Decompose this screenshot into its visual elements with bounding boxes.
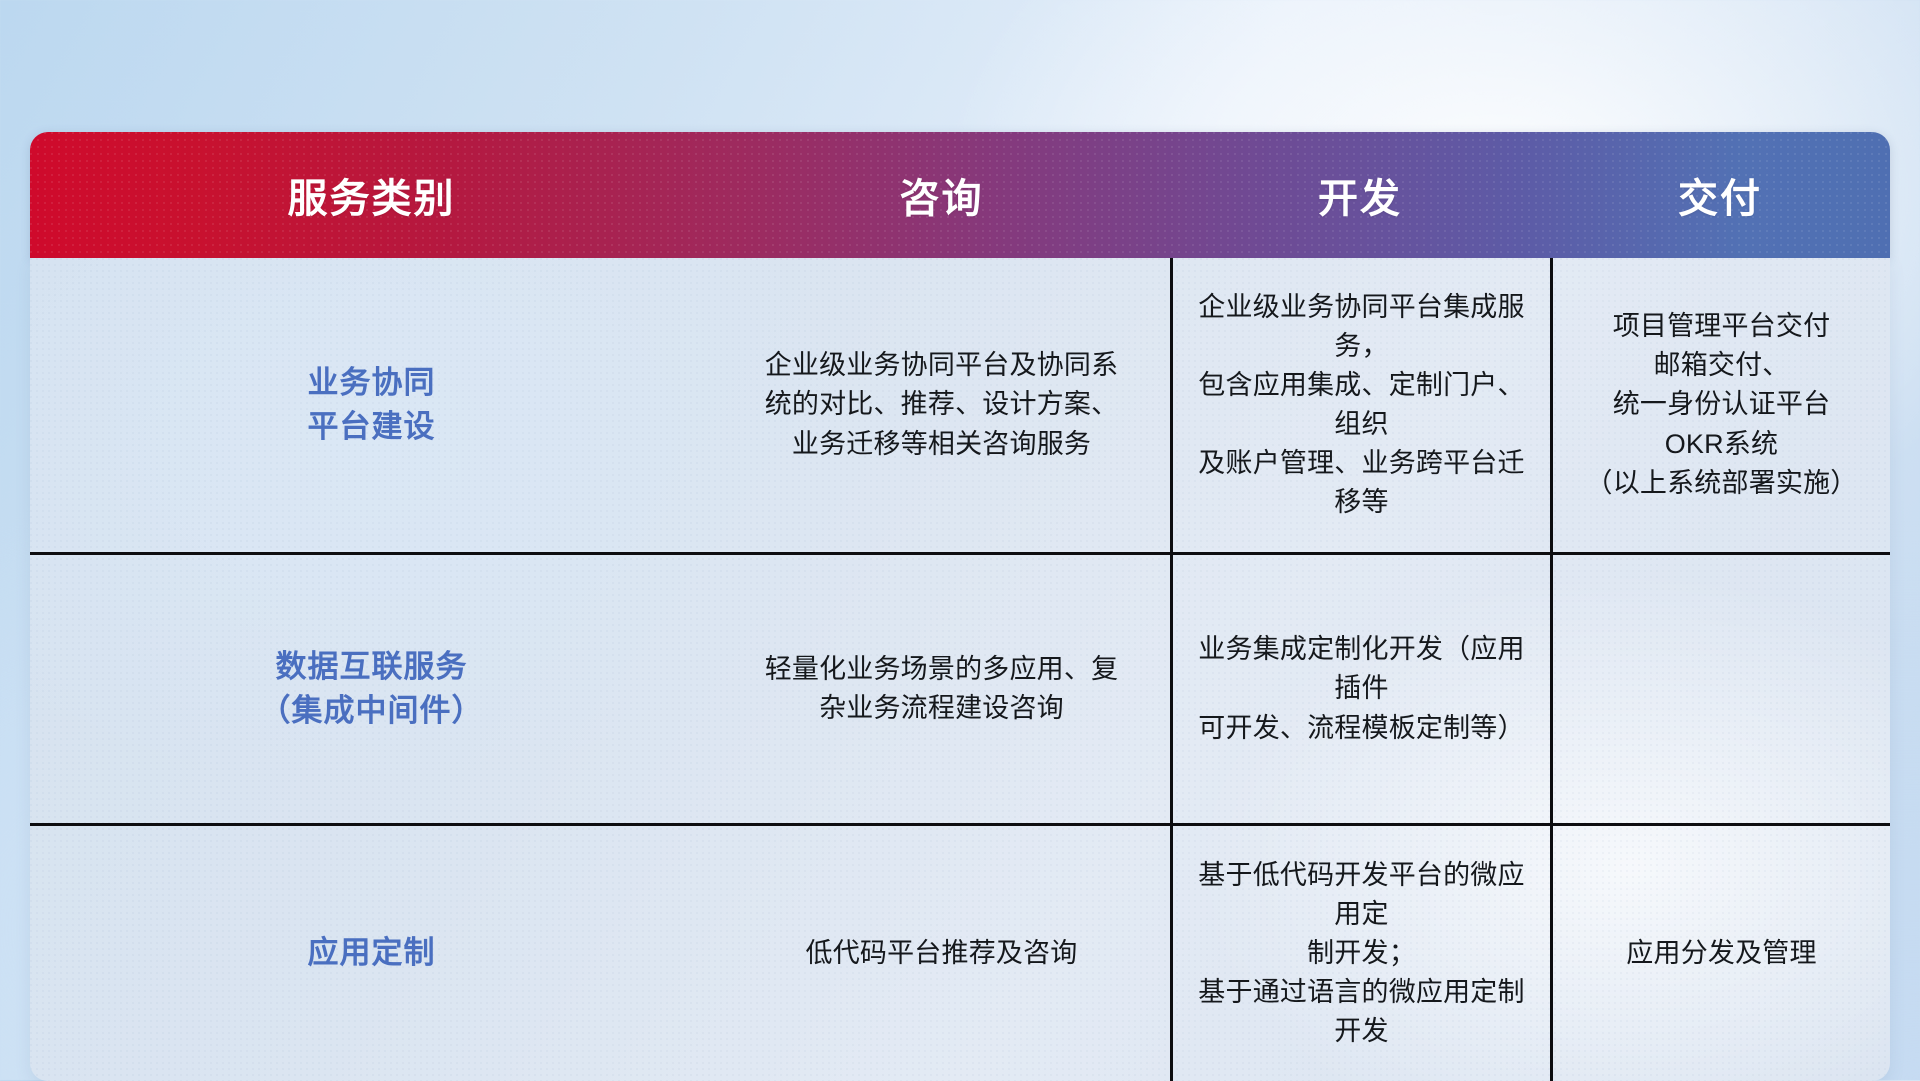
table-row: 应用定制 低代码平台推荐及咨询 基于低代码开发平台的微应用定 制开发； 基于通过…: [30, 823, 1890, 1081]
cell-development: 企业级业务协同平台集成服务， 包含应用集成、定制门户、组织 及账户管理、业务跨平…: [1170, 258, 1550, 552]
column-header-delivery: 交付: [1550, 132, 1890, 258]
column-header-development: 开发: [1170, 132, 1550, 258]
cell-category: 应用定制: [30, 826, 713, 1081]
table-header-row: 服务类别 咨询 开发 交付 运维: [30, 132, 1890, 258]
cell-category: 数据互联服务 （集成中间件）: [30, 555, 713, 823]
column-header-delivery-label: 交付: [1678, 166, 1762, 224]
table-row: 业务协同 平台建设 企业级业务协同平台及协同系 统的对比、推荐、设计方案、 业务…: [30, 258, 1890, 552]
table-body: 业务协同 平台建设 企业级业务协同平台及协同系 统的对比、推荐、设计方案、 业务…: [30, 258, 1890, 1081]
cell-consulting: 轻量化业务场景的多应用、复 杂业务流程建设咨询: [713, 555, 1170, 823]
service-matrix-table: 服务类别 咨询 开发 交付 运维 业务协同 平台建设 企业级业务协同平台及协同系…: [30, 132, 1890, 1081]
cell-consulting: 低代码平台推荐及咨询: [713, 826, 1170, 1081]
column-header-consulting: 咨询: [713, 132, 1170, 258]
cell-delivery: [1550, 555, 1890, 823]
cell-category: 业务协同 平台建设: [30, 258, 713, 552]
cell-delivery: 项目管理平台交付 邮箱交付、 统一身份认证平台 OKR系统 （以上系统部署实施）: [1550, 258, 1890, 552]
cell-development: 基于低代码开发平台的微应用定 制开发； 基于通过语言的微应用定制开发: [1170, 826, 1550, 1081]
slide-canvas: 服务类别 咨询 开发 交付 运维 业务协同 平台建设 企业级业务协同平台及协同系…: [0, 0, 1920, 1080]
table-row: 数据互联服务 （集成中间件） 轻量化业务场景的多应用、复 杂业务流程建设咨询 业…: [30, 552, 1890, 823]
column-header-development-label: 开发: [1318, 166, 1402, 224]
cell-consulting: 企业级业务协同平台及协同系 统的对比、推荐、设计方案、 业务迁移等相关咨询服务: [713, 258, 1170, 552]
cell-delivery: 应用分发及管理: [1550, 826, 1890, 1081]
column-header-consulting-label: 咨询: [900, 166, 984, 224]
column-header-category-label: 服务类别: [288, 166, 456, 224]
column-header-category: 服务类别: [30, 132, 713, 258]
cell-development: 业务集成定制化开发（应用插件 可开发、流程模板定制等）: [1170, 555, 1550, 823]
